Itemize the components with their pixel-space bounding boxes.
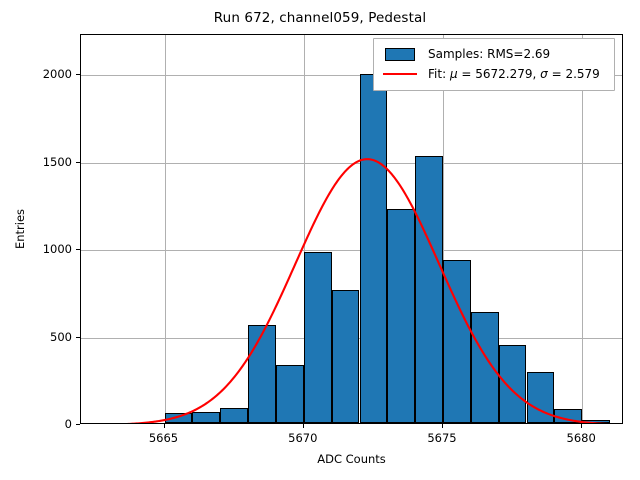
figure: Run 672, channel059, Pedestal 5665567056… xyxy=(0,0,640,480)
fit-path xyxy=(81,159,623,424)
y-tick-label: 1500 xyxy=(38,155,72,169)
y-tick-mark xyxy=(76,337,80,338)
x-tick-label: 5670 xyxy=(288,431,317,445)
gaussian-fit-curve xyxy=(81,35,622,423)
x-tick-mark xyxy=(164,424,165,428)
y-tick-label: 2000 xyxy=(38,67,72,81)
y-tick-mark xyxy=(76,74,80,75)
y-tick-mark xyxy=(76,162,80,163)
legend-patch-icon xyxy=(381,48,419,61)
legend: Samples: RMS=2.69 Fit: μ = 5672.279, σ =… xyxy=(373,38,615,91)
legend-label-samples: Samples: RMS=2.69 xyxy=(428,47,550,61)
x-tick-mark xyxy=(442,424,443,428)
y-tick-label: 500 xyxy=(38,330,72,344)
x-tick-label: 5675 xyxy=(427,431,456,445)
x-tick-mark xyxy=(581,424,582,428)
legend-line-icon xyxy=(381,73,419,75)
y-tick-label: 0 xyxy=(38,417,72,431)
plot-area xyxy=(80,34,623,424)
y-tick-mark xyxy=(76,249,80,250)
y-axis-label-wrap: Entries xyxy=(22,0,23,480)
y-tick-mark xyxy=(76,424,80,425)
x-tick-label: 5680 xyxy=(567,431,596,445)
legend-entry-fit: Fit: μ = 5672.279, σ = 2.579 xyxy=(381,64,607,84)
legend-label-fit: Fit: μ = 5672.279, σ = 2.579 xyxy=(428,67,600,81)
legend-entry-samples: Samples: RMS=2.69 xyxy=(381,44,607,64)
y-tick-label: 1000 xyxy=(38,242,72,256)
x-tick-mark xyxy=(303,424,304,428)
y-axis-label: Entries xyxy=(13,209,27,249)
chart-title: Run 672, channel059, Pedestal xyxy=(0,10,640,26)
x-axis-label: ADC Counts xyxy=(80,452,623,466)
x-tick-label: 5665 xyxy=(149,431,178,445)
